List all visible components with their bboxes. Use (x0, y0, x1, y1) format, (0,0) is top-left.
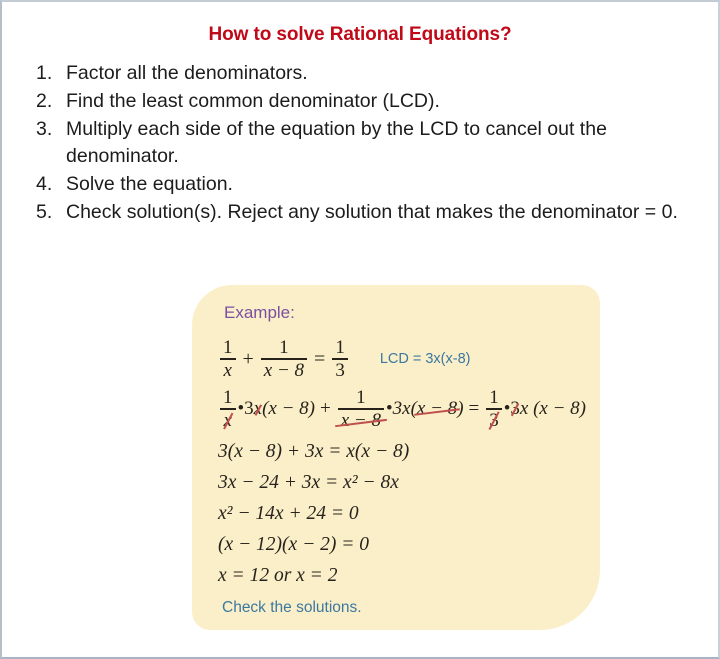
denominator-cancelled: x (221, 410, 235, 431)
denominator: 3 (332, 360, 348, 381)
coefficient-3-cancelled: 3 (510, 398, 520, 420)
multiply-dot: • (504, 398, 511, 420)
fraction-1-over-x-minus-8: 1 x − 8 (261, 337, 307, 381)
check-solutions-note: Check the solutions. (222, 599, 600, 617)
example-label: Example: (224, 303, 600, 323)
step-text: Solve the equation. (66, 171, 684, 198)
step-number: 1. (32, 60, 66, 87)
numerator: 1 (276, 337, 292, 358)
worked-solution: 1 x + 1 x − 8 = 1 3 (218, 337, 600, 587)
factor-x-minus-8: (x − 8) (262, 398, 315, 420)
denominator-cancelled: x − 8 (338, 410, 384, 431)
equals-operator: = (309, 349, 330, 369)
numerator: 1 (353, 387, 369, 408)
fraction-1-over-3: 1 3 (332, 337, 348, 381)
equation-1-expression: 1 x + 1 x − 8 = 1 3 (218, 337, 350, 381)
equation-line-7: x = 12 or x = 2 (218, 565, 600, 587)
step-text: Find the least common denominator (LCD). (66, 88, 684, 115)
list-item: 2. Find the least common denominator (LC… (32, 88, 684, 115)
equation-line-5: x² − 14x + 24 = 0 (218, 503, 600, 525)
worksheet-page: How to solve Rational Equations? 1. Fact… (0, 0, 720, 659)
equals-operator: = (464, 398, 485, 420)
term-x-times-x-minus-8: x (x − 8) (520, 398, 586, 420)
numerator: 1 (220, 387, 236, 408)
denominator: x − 8 (261, 360, 307, 381)
multiply-dot: • (386, 398, 393, 420)
fraction-1-over-x: 1 x (220, 337, 236, 381)
numerator: 1 (486, 387, 502, 408)
plus-operator: + (238, 349, 259, 369)
denominator-cancelled: 3 (486, 410, 502, 431)
numerator: 1 (332, 337, 348, 358)
list-item: 1. Factor all the denominators. (32, 60, 684, 87)
x-cancelled: x (254, 398, 262, 420)
equation-line-6: (x − 12)(x − 2) = 0 (218, 534, 600, 556)
list-item: 5. Check solution(s). Reject any solutio… (32, 199, 684, 226)
page-title: How to solve Rational Equations? (2, 24, 718, 46)
plus-operator: + (315, 398, 336, 420)
fraction-1-over-3-cancelled: 1 3 (486, 387, 502, 431)
step-text: Multiply each side of the equation by th… (66, 116, 684, 170)
list-item: 4. Solve the equation. (32, 171, 684, 198)
multiply-dot: • (238, 398, 245, 420)
step-number: 3. (32, 116, 66, 143)
equation-line-4: 3x − 24 + 3x = x² − 8x (218, 472, 600, 494)
equation-line-3: 3(x − 8) + 3x = x(x − 8) (218, 441, 600, 463)
steps-list: 1. Factor all the denominators. 2. Find … (2, 60, 718, 225)
fraction-1-over-x-cancelled: 1 x (220, 387, 236, 431)
numerator: 1 (220, 337, 236, 358)
factor-x-minus-8-cancelled: x − 8 (417, 398, 457, 420)
step-text: Factor all the denominators. (66, 60, 684, 87)
equation-line-1: 1 x + 1 x − 8 = 1 3 (218, 337, 600, 381)
denominator: x (221, 360, 235, 381)
coefficient-3: 3 (244, 398, 254, 420)
list-item: 3. Multiply each side of the equation by… (32, 116, 684, 170)
step-number: 4. (32, 171, 66, 198)
step-text: Check solution(s). Reject any solution t… (66, 199, 684, 226)
term-3x-open: 3x( (393, 398, 417, 420)
lcd-annotation: LCD = 3x(x-8) (380, 351, 471, 367)
equation-line-2: 1 x • 3 x (x − 8) + 1 x − 8 • 3x( x − 8 … (218, 387, 600, 431)
example-callout-box: Example: 1 x + 1 x − 8 = (192, 285, 600, 630)
fraction-1-over-x-minus-8-cancelled: 1 x − 8 (338, 387, 384, 431)
step-number: 5. (32, 199, 66, 226)
step-number: 2. (32, 88, 66, 115)
